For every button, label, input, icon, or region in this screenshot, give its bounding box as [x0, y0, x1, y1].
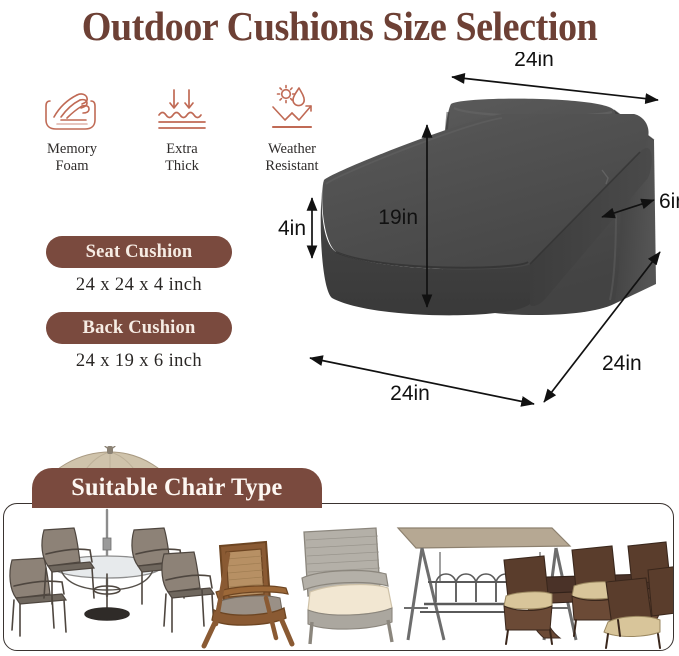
badge-label: Back Cushion — [83, 318, 196, 339]
cushion-size-list: Seat Cushion 24 x 24 x 4 inch Back Cushi… — [30, 236, 248, 388]
dimension-label-back-width: 24in — [514, 52, 554, 71]
badge-label: Seat Cushion — [86, 242, 193, 263]
banner-title: Suitable Chair Type — [71, 474, 282, 502]
feature-memory-foam: Memory Foam — [22, 84, 122, 175]
suitable-chair-section: Suitable Chair Type — [0, 446, 679, 656]
badge-seat-cushion: Seat Cushion — [46, 236, 232, 268]
extra-thick-icon — [151, 84, 213, 136]
seat-cushion-spec: 24 x 24 x 4 inch — [30, 275, 248, 296]
dimension-label-back-height: 19in — [378, 206, 418, 229]
badge-back-cushion: Back Cushion — [46, 312, 232, 344]
dimension-label-seat-thickness: 4in — [278, 217, 306, 240]
page-title: Outdoor Cushions Size Selection — [24, 2, 655, 50]
memory-foam-icon — [41, 84, 103, 136]
chair-item-patio-dining-set — [10, 510, 214, 636]
chair-item-wooden-lounge-chair — [204, 542, 292, 646]
back-cushion-spec: 24 x 19 x 6 inch — [30, 351, 248, 372]
feature-label: Memory Foam — [47, 141, 97, 175]
feature-label: Extra Thick — [165, 141, 199, 175]
dimension-label-seat-width: 24in — [390, 382, 430, 405]
chair-item-wicker-dining-set — [504, 542, 673, 648]
dimension-label-seat-depth: 24in — [602, 352, 642, 375]
chair-gallery — [3, 503, 674, 651]
suitable-chair-banner: Suitable Chair Type — [32, 468, 322, 508]
chair-item-wicker-armchair — [302, 528, 392, 644]
dimension-label-back-depth: 6in — [659, 190, 679, 213]
dimension-back-width — [452, 77, 658, 100]
feature-extra-thick: Extra Thick — [132, 84, 232, 175]
cushion-dimension-diagram: 24in 19in 6in 4in 24in 24in — [262, 52, 679, 442]
